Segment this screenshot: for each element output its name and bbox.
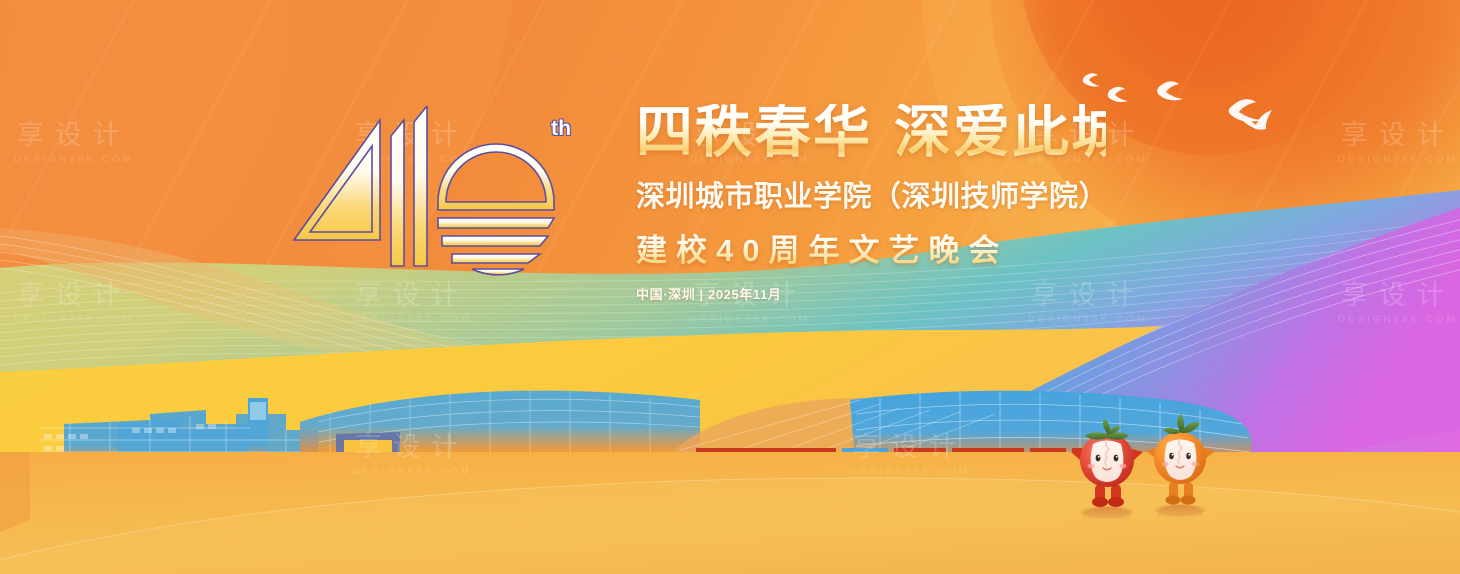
headline-right: 深爱此城 <box>894 101 1130 164</box>
logo-4-stroke-b <box>414 106 427 266</box>
event-meta: 中国·深圳 | 2025年11月 <box>636 284 1106 303</box>
logo-0-stripe <box>438 218 554 228</box>
poster-canvas: 享设计 DESIGN98K.COM 享设计 DESIGN98K.COM 享设计 … <box>0 0 1460 574</box>
mascots-group <box>1062 398 1232 528</box>
logo-4-triangle <box>294 120 380 240</box>
anniversary-logo-40 <box>286 106 596 276</box>
leaf-icon <box>1085 419 1129 440</box>
logo-0-stripe <box>452 254 540 263</box>
logo-ordinal-th: th <box>551 117 571 141</box>
tomato-mascot <box>1071 419 1143 525</box>
event-subtitle: 建校40周年文艺晚会 <box>636 225 1106 270</box>
headline: 四秩春华深爱此城 <box>636 104 1106 161</box>
orange-mascot <box>1146 414 1215 523</box>
logo-0-dome <box>438 144 554 210</box>
leaf-icon <box>1163 414 1200 434</box>
logo-0-stripe <box>442 236 548 246</box>
logo-4-stroke-a <box>391 120 404 266</box>
headline-block: 四秩春华深爱此城 深圳城市职业学院（深圳技师学院） 建校40周年文艺晚会 中国·… <box>636 104 1106 303</box>
logo-0-stripe <box>472 269 524 275</box>
organization-name: 深圳城市职业学院（深圳技师学院） <box>636 173 1106 215</box>
headline-left: 四秩春华 <box>636 101 872 164</box>
